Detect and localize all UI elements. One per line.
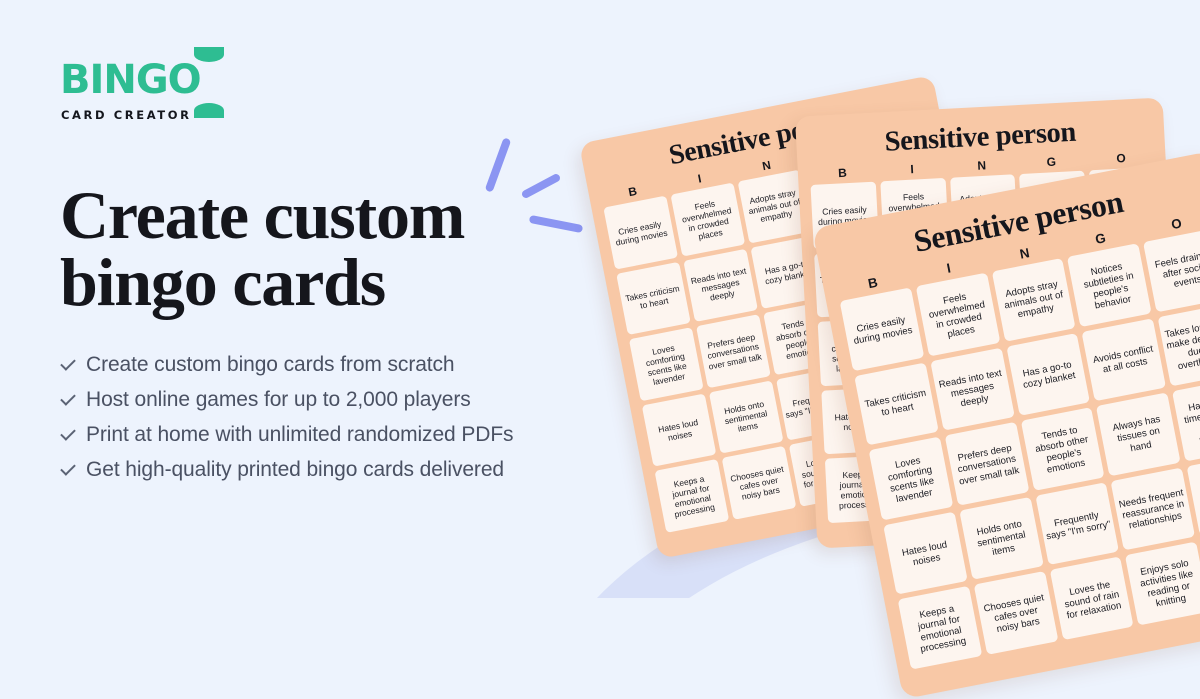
bingo-cell: Hates loud noises — [883, 511, 967, 594]
bingo-cell: Feels overwhelmed in crowded places — [670, 183, 744, 257]
bingo-cell: Reads into text messages deeply — [930, 347, 1014, 430]
bingo-cell: Hates loud noises — [642, 393, 716, 467]
logo-arc-top-icon — [194, 47, 224, 62]
bingo-cell: Prefers deep conversations over small ta… — [945, 422, 1029, 505]
bingo-cell: Always has tissues on hand — [1096, 393, 1180, 476]
bingo-cell: Chooses quiet cafes over noisy bars — [722, 446, 796, 520]
bingo-letter: I — [879, 160, 945, 177]
check-icon — [60, 428, 75, 443]
headline-line-1: Create custom — [60, 177, 464, 253]
feature-label: Print at home with unlimited randomized … — [86, 423, 513, 447]
feature-label: Create custom bingo cards from scratch — [86, 353, 455, 377]
headline-line-2: bingo cards — [60, 244, 385, 320]
bingo-cell: Keeps a journal for emotional processing — [655, 459, 729, 533]
bingo-letter: B — [810, 164, 876, 181]
bingo-cell: Feels overwhelmed in crowded places — [916, 273, 1000, 356]
list-item: Get high-quality printed bingo cards del… — [60, 458, 620, 482]
bingo-letter: N — [949, 157, 1015, 174]
bingo-cell: Takes criticism to heart — [854, 362, 938, 445]
check-icon — [60, 393, 75, 408]
brand-logo-wordmark: BINGO — [60, 60, 201, 100]
brand-logo-subtitle: CARD CREATOR — [61, 108, 192, 122]
bingo-cell: Notices subtleties in people's behavior — [1067, 243, 1151, 326]
bingo-cell: Tends to absorb other people's emotions — [1020, 407, 1104, 490]
feature-list: Create custom bingo cards from scratch H… — [60, 353, 620, 482]
bingo-cell: Feels drained after social events — [1143, 228, 1200, 311]
bingo-letter: G — [1018, 153, 1084, 170]
bingo-cell: Loves comforting scents like lavender — [869, 437, 953, 520]
bingo-cell: Holds onto sentimental items — [959, 497, 1043, 580]
page-title: Create custom bingo cards — [60, 182, 620, 315]
bingo-cell: Adopts stray animals out of empathy — [991, 258, 1075, 341]
bingo-cell: Reads into text messages deeply — [683, 248, 757, 322]
list-item: Print at home with unlimited randomized … — [60, 423, 620, 447]
bingo-cell: Chooses quiet cafes over noisy bars — [974, 571, 1058, 654]
bingo-cell: Takes longer to make decisions due to ov… — [1158, 303, 1200, 386]
bingo-cell: Enjoys solo activities like reading or k… — [1125, 542, 1200, 625]
bingo-cell: Takes criticism to heart — [616, 262, 690, 336]
brand-logo[interactable]: BINGO CARD CREATOR — [60, 56, 240, 130]
list-item: Host online games for up to 2,000 player… — [60, 388, 620, 412]
logo-arc-bottom-icon — [194, 103, 224, 118]
list-item: Create custom bingo cards from scratch — [60, 353, 620, 377]
check-icon — [60, 463, 75, 478]
feature-label: Host online games for up to 2,000 player… — [86, 388, 471, 412]
hero-content: BINGO CARD CREATOR Create custom bingo c… — [60, 56, 620, 493]
bingo-cell: Has a go-to cozy blanket — [1006, 333, 1090, 416]
bingo-cell: Needs frequent reassurance in relationsh… — [1111, 467, 1195, 550]
feature-label: Get high-quality printed bingo cards del… — [86, 458, 504, 482]
bingo-cell: Loves comforting scents like lavender — [629, 327, 704, 401]
bingo-cell: Avoids conflict at all costs — [1082, 318, 1166, 401]
bingo-cell: Frequently says "I'm sorry" — [1035, 482, 1119, 565]
check-icon — [60, 358, 75, 373]
bingo-card-front: Sensitive person B I N G O Cries easily … — [812, 151, 1200, 699]
bingo-cell: Cries easily during movies — [840, 287, 924, 370]
bingo-cell: Prefers deep conversations over small ta… — [696, 314, 771, 388]
bingo-cell: Holds onto sentimental items — [709, 380, 783, 454]
bingo-grid: Cries easily during movies Feels overwhe… — [840, 228, 1200, 669]
